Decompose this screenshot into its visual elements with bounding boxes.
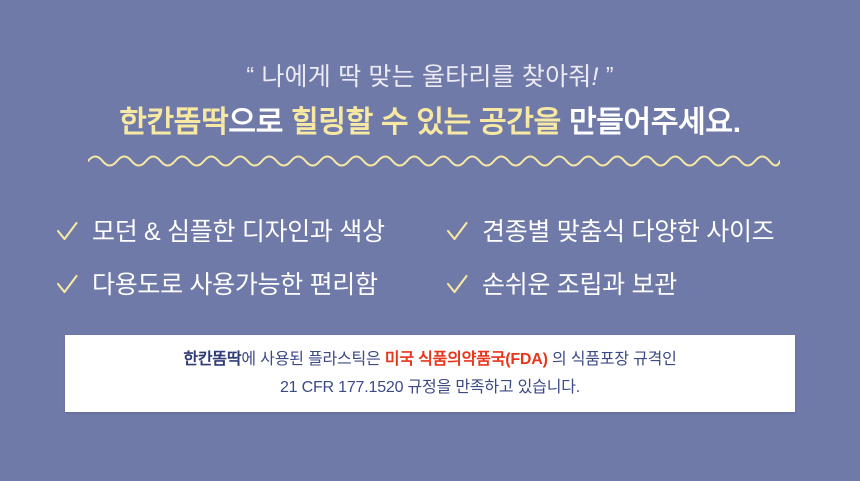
- feature-list: 모던 & 심플한 디자인과 색상 견종별 맞춤식 다양한 사이즈 다용도로 사용…: [55, 205, 815, 311]
- feature-item: 손쉬운 조립과 보관: [445, 258, 815, 311]
- close-quote-mark: ”: [606, 62, 614, 88]
- headline-particle: 으로: [228, 106, 283, 139]
- note-line-1: 한칸똠딱에 사용된 플라스틱은 미국 식품의약품국(FDA) 의 식품포장 규격…: [183, 348, 676, 372]
- quote-text: 나에게 딱 맞는 울타리를 찾아줘: [261, 63, 591, 91]
- headline-brand: 한칸똠딱: [119, 106, 228, 139]
- note-tail-text: 의 식품포장 규격인: [548, 351, 677, 368]
- feature-label: 다용도로 사용가능한 편리함: [92, 270, 378, 300]
- wavy-line-icon: [88, 150, 780, 168]
- quote-exclamation: !: [592, 63, 599, 91]
- feature-item: 견종별 맞춤식 다양한 사이즈: [445, 205, 815, 258]
- check-icon: [445, 220, 469, 244]
- note-line-2: 21 CFR 177.1520 규정을 만족하고 있습니다.: [280, 376, 580, 400]
- quote-line: “ 나에게 딱 맞는 울타리를 찾아줘! ”: [0, 58, 860, 94]
- feature-label: 모던 & 심플한 디자인과 색상: [92, 217, 385, 247]
- certification-note-box: 한칸똠딱에 사용된 플라스틱은 미국 식품의약품국(FDA) 의 식품포장 규격…: [65, 335, 795, 412]
- feature-item: 모던 & 심플한 디자인과 색상: [55, 205, 445, 258]
- check-icon: [55, 273, 79, 297]
- headline-tail: 만들어주세요.: [569, 106, 741, 139]
- feature-label: 손쉬운 조립과 보관: [482, 270, 677, 300]
- feature-item: 다용도로 사용가능한 편리함: [55, 258, 445, 311]
- note-mid-text: 에 사용된 플라스틱은: [241, 351, 384, 368]
- open-quote-mark: “: [246, 62, 254, 88]
- check-icon: [55, 220, 79, 244]
- check-icon: [445, 273, 469, 297]
- note-brand: 한칸똠딱: [183, 351, 241, 368]
- promo-banner: “ 나에게 딱 맞는 울타리를 찾아줘! ” 한칸똠딱으로 힐링할 수 있는 공…: [0, 0, 860, 481]
- headline-highlight: 힐링할 수 있는 공간을: [291, 106, 561, 139]
- feature-label: 견종별 맞춤식 다양한 사이즈: [482, 217, 774, 247]
- headline: 한칸똠딱으로 힐링할 수 있는 공간을 만들어주세요.: [0, 103, 860, 143]
- note-fda-highlight: 미국 식품의약품국(FDA): [385, 351, 548, 368]
